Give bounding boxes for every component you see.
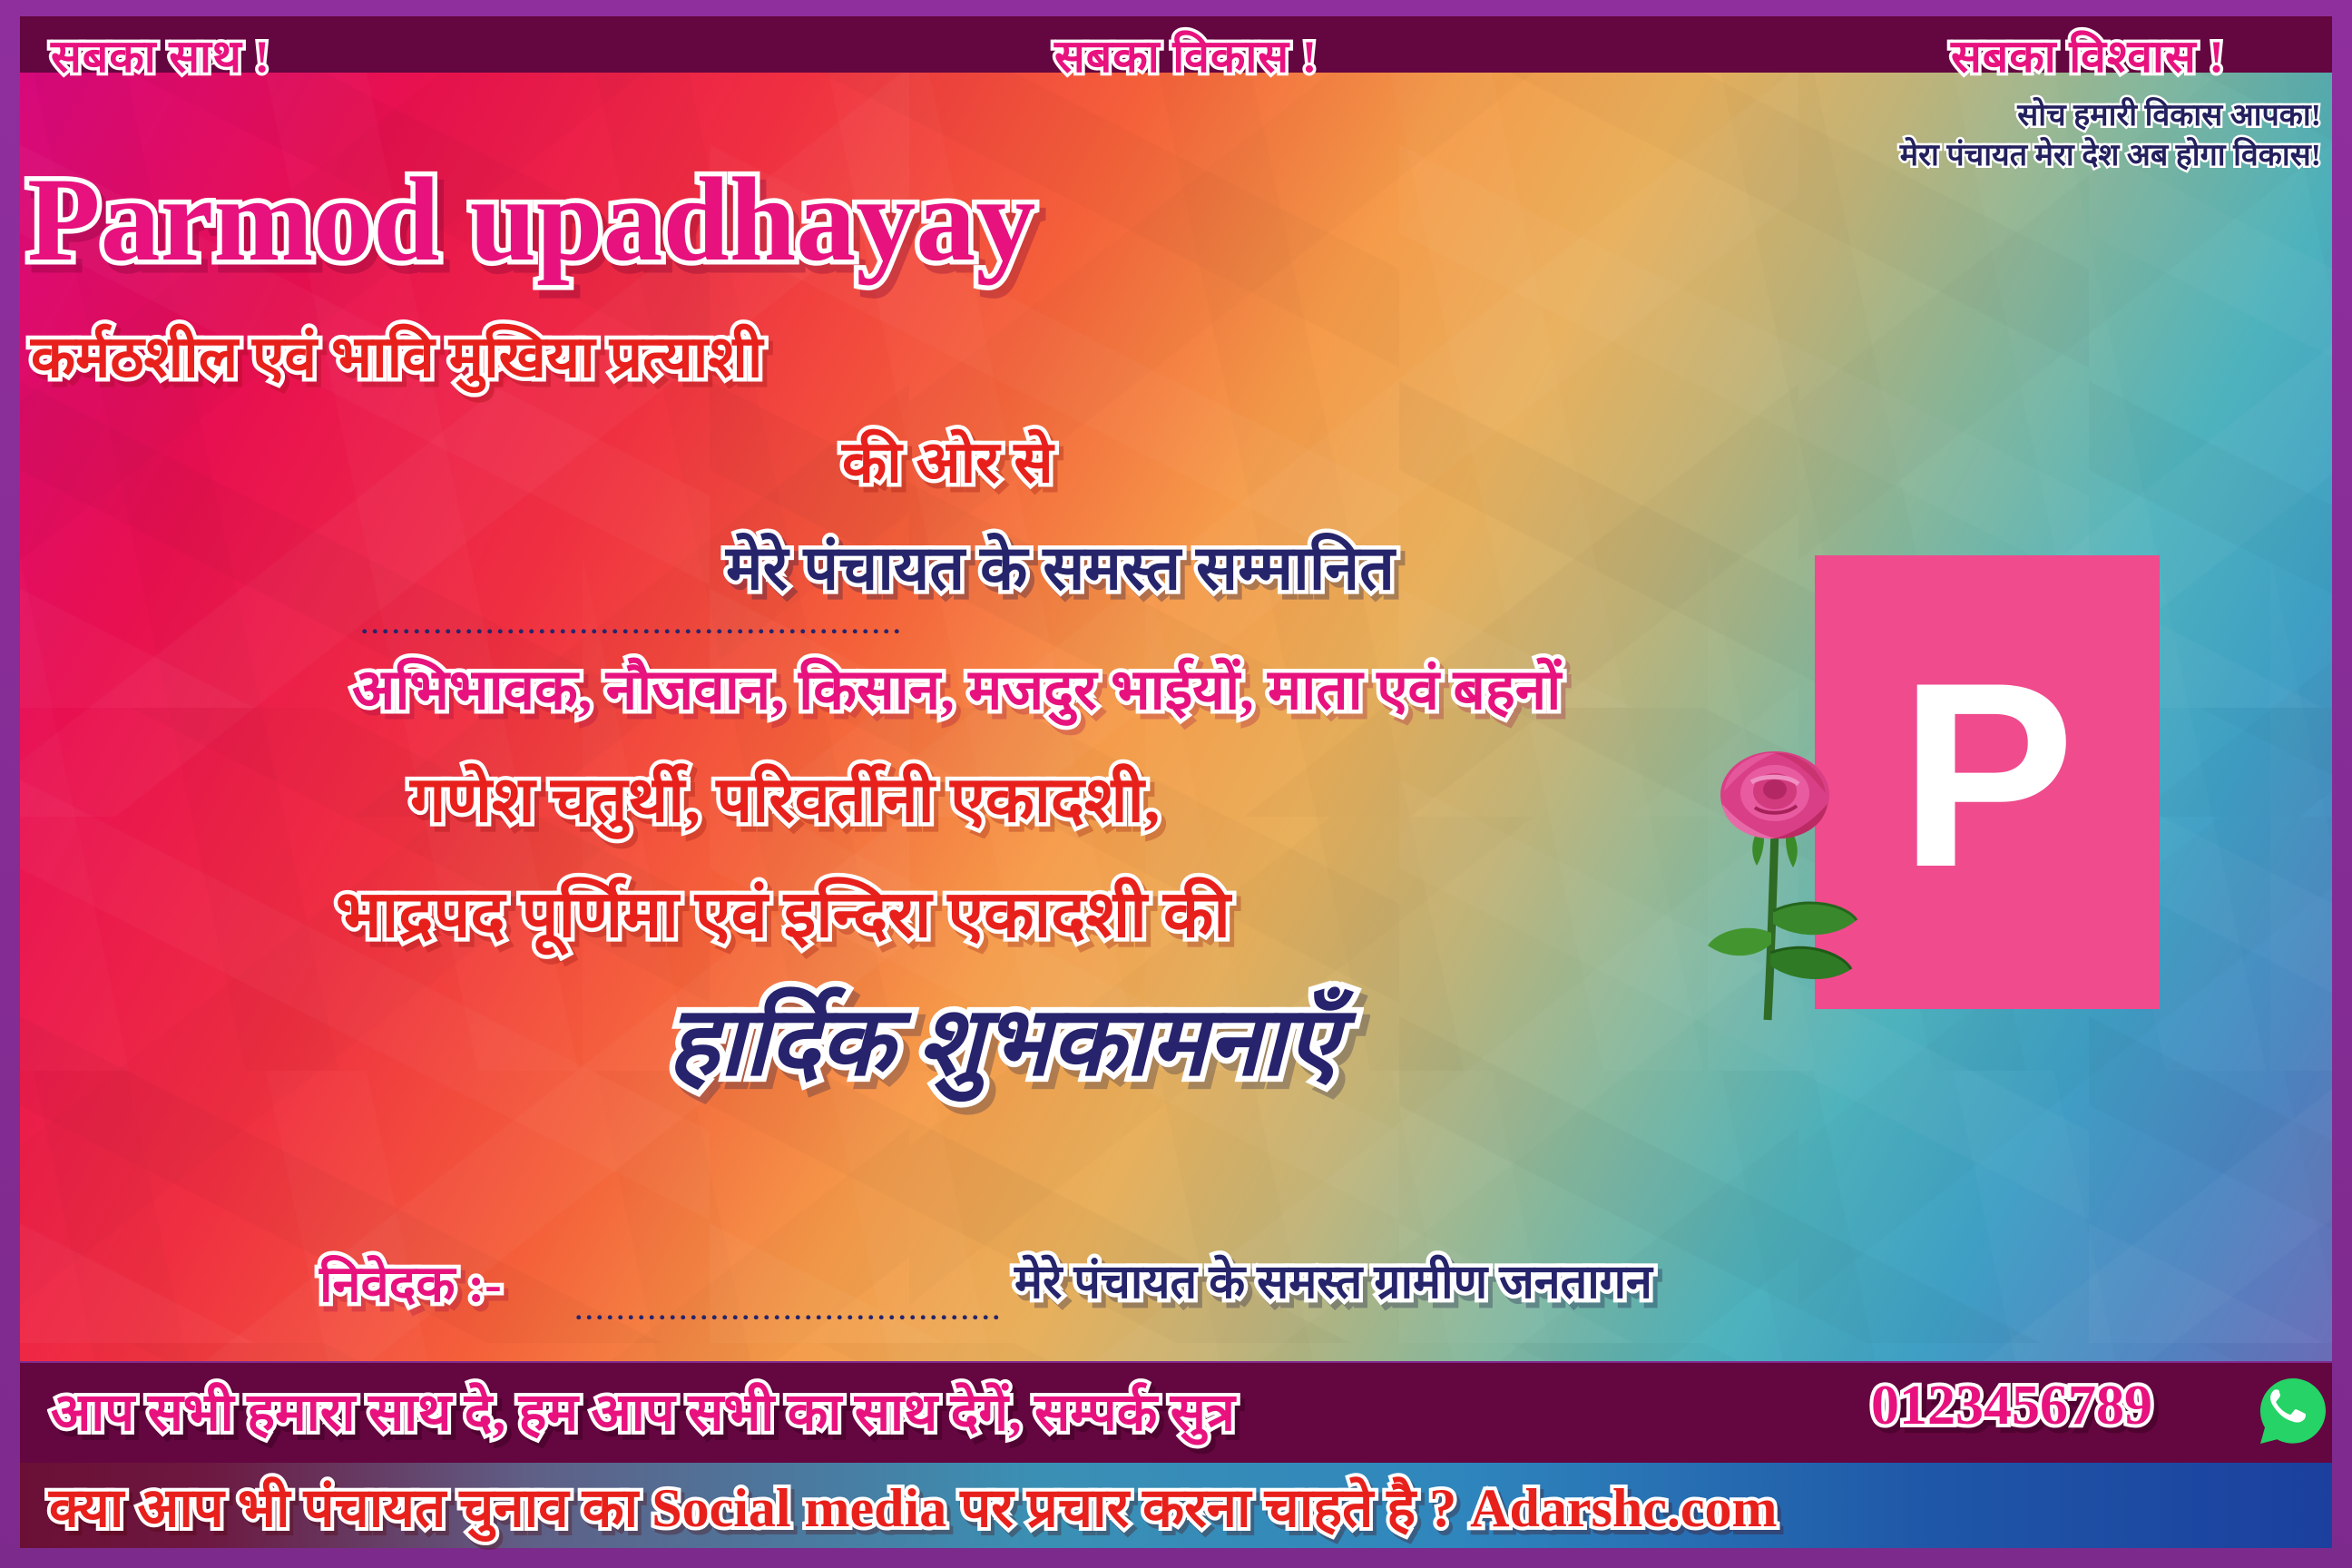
signature-value: मेरे पंचायत के समस्त ग्रामीण जनतागन xyxy=(1014,1259,1652,1307)
festival-line-1: गणेश चतुर्थी, परिवर्तीनी एकादशी, xyxy=(410,769,1160,833)
contact-phone-number[interactable]: 0123456789 xyxy=(1871,1374,2152,1438)
appeal-text: आप सभी हमारा साथ दे, हम आप सभी का साथ दे… xyxy=(51,1374,1235,1445)
bottom-appeal-bar: आप सभी हमारा साथ दे, हम आप सभी का साथ दे… xyxy=(20,1363,2332,1463)
signature-label: निवेदक :- xyxy=(319,1259,502,1310)
tagline-line-2: मेरा पंचायत मेरा देश अब होगा विकास! xyxy=(1900,136,2321,176)
candidate-name: Parmod upadhayay xyxy=(27,160,1035,279)
top-slogan-bar: सबका साथ ! सबका विकास ! सबका विश्वास ! xyxy=(20,16,2332,73)
from-label: की ओर से xyxy=(842,434,1053,492)
promo-text[interactable]: क्या आप भी पंचायत चुनाव का Social media … xyxy=(49,1468,1777,1543)
dotted-leader-1: ........................................… xyxy=(361,610,996,633)
candidate-designation: कर्मठशील एवं भावि मुखिया प्रत्याशी xyxy=(31,328,762,387)
festival-line-2: भाद्रपद पूर्णिमा एवं इन्दिरा एकादशी की xyxy=(336,882,1230,947)
slogan-sabka-vikas: सबका विकास ! xyxy=(1054,24,1318,85)
dotted-leader-2: ........................................… xyxy=(575,1296,1011,1319)
greeting-wish: हार्दिक शुभकामनाएँ xyxy=(668,995,1338,1091)
tagline-line-1: सोच हमारी विकास आपका! xyxy=(1900,96,2321,136)
bottom-promo-bar: क्या आप भी पंचायत चुनाव का Social media … xyxy=(20,1463,2332,1548)
slogan-sabka-vishwas: सबका विश्वास ! xyxy=(1951,24,2225,85)
election-greeting-poster: सबका साथ ! सबका विकास ! सबका विश्वास ! स… xyxy=(0,0,2352,1568)
rose-icon xyxy=(1661,751,1878,1024)
whatsapp-icon[interactable] xyxy=(2258,1376,2328,1446)
slogan-sabka-saath: सबका साथ ! xyxy=(51,24,270,85)
photo-placeholder-letter: P xyxy=(1899,643,2074,906)
addressee-line-1: मेरे पंचायत के समस्त सम्मानित xyxy=(726,537,1395,599)
campaign-tagline: सोच हमारी विकास आपका! मेरा पंचायत मेरा द… xyxy=(1900,96,2321,175)
addressee-line-2: अभिभावक, नौजवान, किसान, मजदुर भाईयों, मा… xyxy=(352,662,1561,719)
